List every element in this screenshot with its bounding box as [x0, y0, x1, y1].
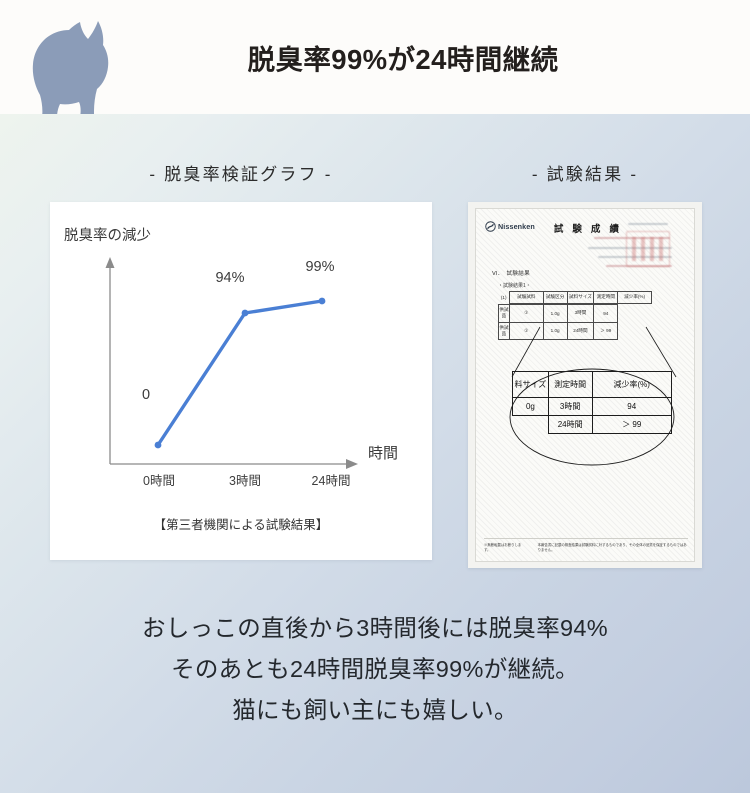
table-row: 24時間 ＞ 99	[513, 416, 672, 434]
chart-data-point	[319, 298, 326, 305]
chart-data-line	[158, 301, 322, 445]
summary-copy-line: そのあとも24時間脱臭率99%が継続。	[0, 649, 750, 690]
summary-copy-line: 猫にも飼い主にも嬉しい。	[0, 690, 750, 731]
table-row: 料サイズ 測定時間 減少率(%)	[513, 372, 672, 398]
chart-x-tick-label: 3時間	[214, 470, 276, 489]
chart-data-point	[155, 442, 162, 449]
table-cell: 0g	[513, 398, 549, 416]
page-header: 脱臭率99%が24時間継続	[0, 0, 750, 114]
summary-copy: おしっこの直後から3時間後には脱臭率94% そのあとも24時間脱臭率99%が継続…	[0, 608, 750, 731]
table-cell: 24時間	[548, 416, 592, 434]
graph-section-title: - 脱臭率検証グラフ -	[50, 160, 432, 185]
chart-y-axis-arrowhead	[106, 257, 115, 268]
table-row: 0g 3時間 94	[513, 398, 672, 416]
chart-point-label: 94%	[200, 270, 260, 286]
chart-point-label: 99%	[290, 259, 350, 275]
chart-x-axis-arrowhead	[346, 459, 358, 469]
chart-plot	[50, 202, 432, 560]
magnified-result-table-wrap: 料サイズ 測定時間 減少率(%) 0g 3時間 94 24時間 ＞ 99	[502, 361, 680, 471]
report-footnotes: ※無断転載はお断りします。 本報告書に記載の検査結果は試験試料に対するものであり…	[484, 538, 688, 552]
chart-data-point	[242, 310, 249, 317]
table-cell: 3時間	[548, 398, 592, 416]
test-report-page: Nissenken 試 験 成 績 Ⅵ． 試験結果 ・試験結果1・ (1) 試験…	[475, 208, 695, 562]
chart-caption: 【第三者機関による試験結果】	[50, 514, 432, 533]
table-cell	[513, 416, 549, 434]
chart-x-tick-label: 24時間	[300, 470, 362, 489]
magnified-result-table: 料サイズ 測定時間 減少率(%) 0g 3時間 94 24時間 ＞ 99	[512, 371, 672, 434]
table-header-cell: 料サイズ	[513, 372, 549, 398]
table-header-cell: 測定時間	[548, 372, 592, 398]
document-section-title: - 試験結果 -	[468, 160, 702, 185]
table-cell: 94	[592, 398, 672, 416]
chart-point-label: 0	[142, 387, 150, 403]
table-cell: ＞ 99	[592, 416, 672, 434]
deodorization-chart-card: 脱臭率の減少 時間 0 94% 99% 0時間 3時間 24時間 【第三者機関に…	[50, 202, 432, 560]
page-title: 脱臭率99%が24時間継続	[0, 0, 750, 114]
table-header-cell: 減少率(%)	[592, 372, 672, 398]
summary-copy-line: おしっこの直後から3時間後には脱臭率94%	[0, 608, 750, 649]
report-footnote: 本報告書に記載の検査結果は試験試料に対するものであり、その全体の品質を保証するも…	[538, 542, 688, 552]
report-footnote: ※無断転載はお断りします。	[484, 542, 524, 552]
chart-x-tick-label: 0時間	[128, 470, 190, 489]
content-stage: - 脱臭率検証グラフ - - 試験結果 - 脱臭率の減少 時間 0 94% 99…	[0, 114, 750, 793]
test-report-panel: Nissenken 試 験 成 績 Ⅵ． 試験結果 ・試験結果1・ (1) 試験…	[468, 202, 702, 568]
